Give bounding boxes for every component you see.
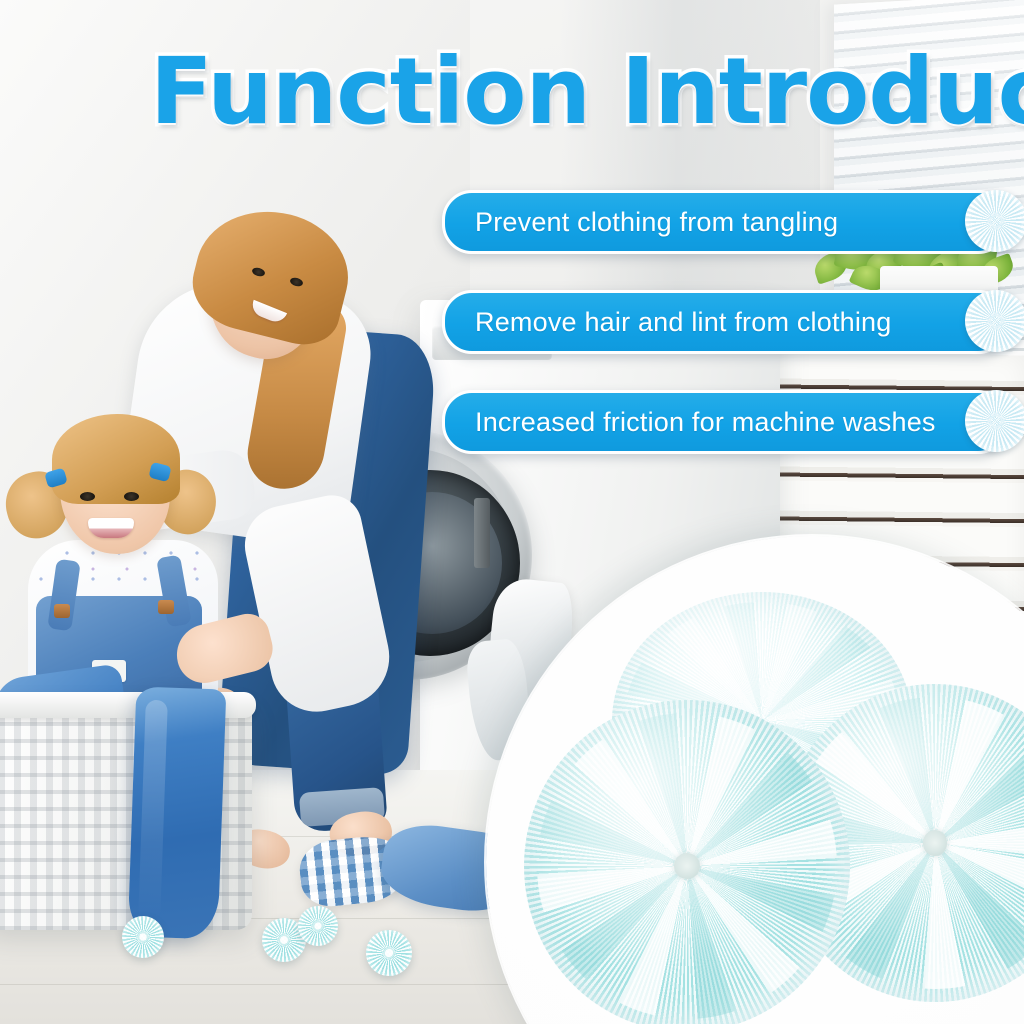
feature-label: Increased friction for machine washes <box>445 407 936 438</box>
feature-pill-3[interactable]: Increased friction for machine washes <box>442 390 1008 454</box>
page-title: Function Introduction <box>150 46 1024 138</box>
product-infographic: Function Introduction Prevent clothing f… <box>0 0 1024 1024</box>
product-laundry-ball-main <box>524 700 850 1024</box>
floor-laundry-ball <box>122 916 164 958</box>
laundry-ball-icon <box>965 190 1024 252</box>
washing-machine-hinge <box>474 498 490 568</box>
laundry-ball-icon <box>965 290 1024 352</box>
feature-pill-2[interactable]: Remove hair and lint from clothing <box>442 290 1008 354</box>
feature-label: Remove hair and lint from clothing <box>445 307 892 338</box>
child-overall-buckle <box>54 604 70 618</box>
laundry-ball-icon <box>965 390 1024 452</box>
child-eye <box>124 492 139 501</box>
child-hair <box>52 414 180 504</box>
floor-laundry-ball <box>366 930 412 976</box>
feature-label: Prevent clothing from tangling <box>445 207 838 238</box>
child-overall-buckle <box>158 600 174 614</box>
feature-pill-1[interactable]: Prevent clothing from tangling <box>442 190 1008 254</box>
child-eye <box>80 492 95 501</box>
floor-laundry-ball <box>298 906 338 946</box>
child-smile <box>88 518 134 538</box>
